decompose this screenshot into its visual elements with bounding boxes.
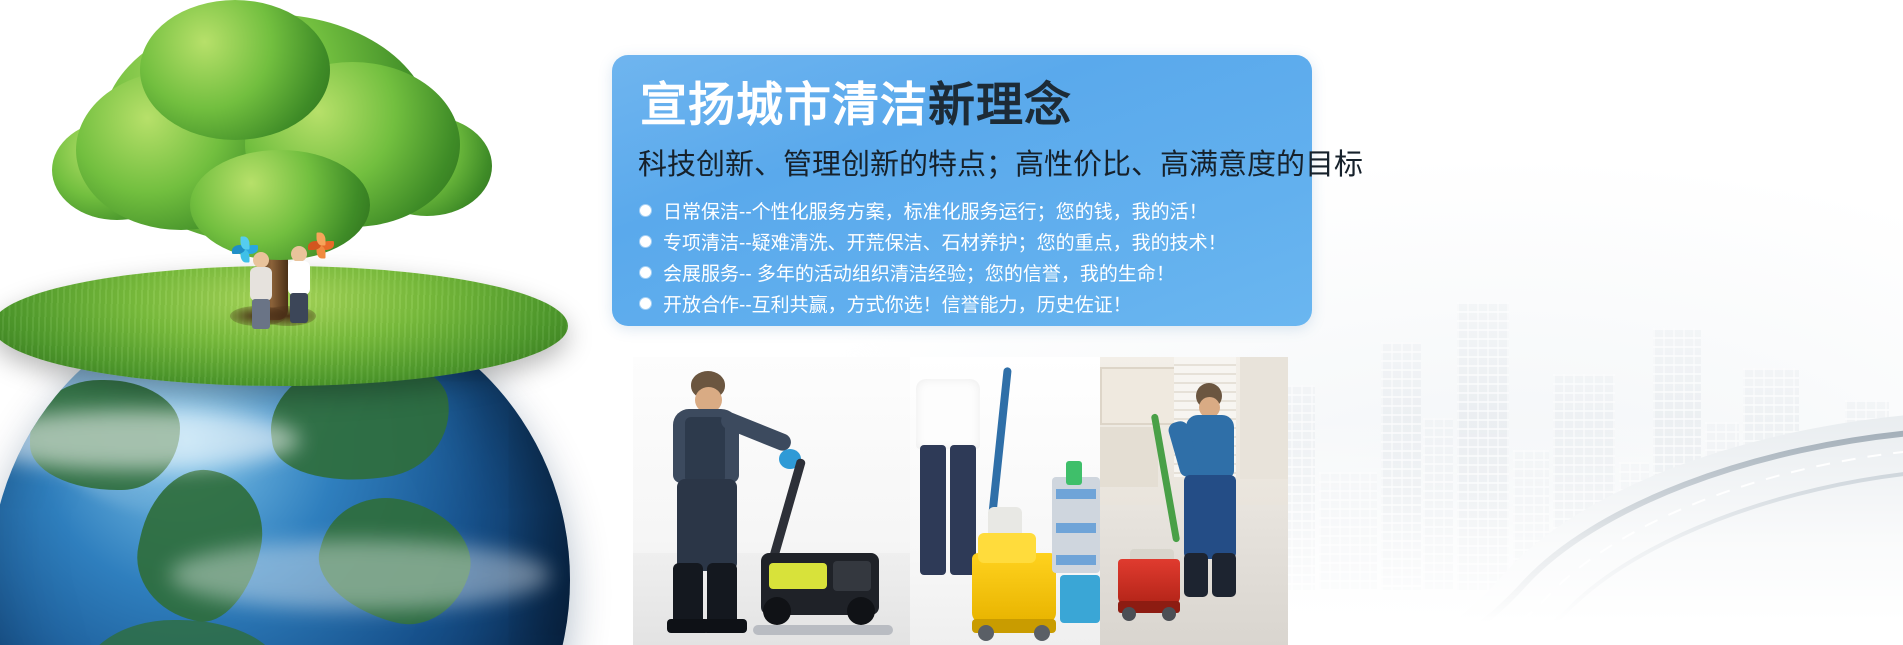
mop-bucket-cleaning-cart-photo — [910, 357, 1100, 645]
tree-canopy-icon — [140, 0, 330, 140]
floor-scrubber-worker-photo — [633, 357, 910, 645]
bullet-dot-icon — [640, 236, 651, 247]
kitchen-mopping-worker-photo — [1100, 357, 1288, 645]
child-figure-icon — [286, 246, 312, 328]
bullet-dot-icon — [640, 298, 651, 309]
earth-tree-artwork — [0, 0, 600, 645]
panel-title: 宣扬城市清洁新理念 — [640, 79, 1072, 131]
list-item: 会展服务-- 多年的活动组织清洁经验；您的信誉，我的生命！ — [640, 257, 1302, 288]
hero-banner: 宣扬城市清洁新理念 科技创新、管理创新的特点；高性价比、高满意度的目标 日常保洁… — [0, 0, 1903, 645]
bullet-dot-icon — [640, 205, 651, 216]
service-bullet-list: 日常保洁--个性化服务方案，标准化服务运行；您的钱，我的活！ 专项清洁--疑难清… — [640, 195, 1302, 319]
info-panel: 宣扬城市清洁新理念 科技创新、管理创新的特点；高性价比、高满意度的目标 日常保洁… — [612, 55, 1312, 326]
pinwheel-icon — [232, 232, 258, 258]
bullet-text: 专项清洁--疑难清洗、开荒保洁、石材养护；您的重点，我的技术！ — [663, 228, 1227, 255]
bullet-text: 开放合作--互利共赢，方式你选！信誉能力，历史佐证！ — [663, 290, 1132, 317]
list-item: 专项清洁--疑难清洗、开荒保洁、石材养护；您的重点，我的技术！ — [640, 226, 1302, 257]
bullet-dot-icon — [640, 267, 651, 278]
pinwheel-icon — [308, 228, 334, 254]
child-figure-icon — [248, 252, 274, 330]
photo-strip — [633, 357, 1288, 645]
panel-title-rest: 新理念 — [928, 78, 1072, 131]
bullet-text: 日常保洁--个性化服务方案，标准化服务运行；您的钱，我的活！ — [663, 197, 1208, 224]
list-item: 开放合作--互利共赢，方式你选！信誉能力，历史佐证！ — [640, 288, 1302, 319]
tree-canopy-icon — [190, 150, 370, 260]
list-item: 日常保洁--个性化服务方案，标准化服务运行；您的钱，我的活！ — [640, 195, 1302, 226]
panel-title-highlight: 宣扬城市清洁 — [640, 78, 928, 131]
panel-subtitle: 科技创新、管理创新的特点；高性价比、高满意度的目标 — [638, 147, 1363, 183]
bullet-text: 会展服务-- 多年的活动组织清洁经验；您的信誉，我的生命！ — [663, 259, 1175, 286]
